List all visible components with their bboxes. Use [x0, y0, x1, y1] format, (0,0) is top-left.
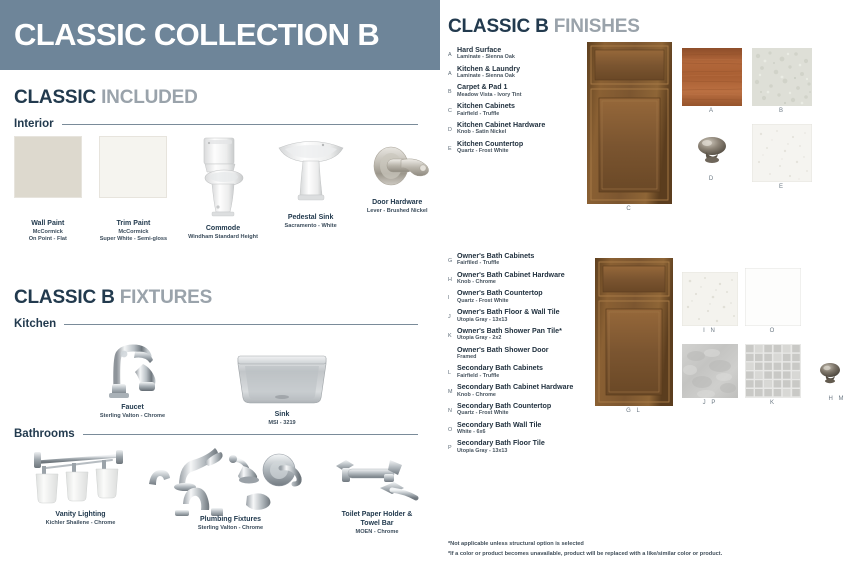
swatch-quartz-top: E [752, 124, 812, 182]
swatch-label: O [745, 328, 801, 334]
finish-row: C Kitchen Cabinets Fairfield - Truffle [448, 102, 598, 117]
item-trim-paint: Trim Paint McCormick Super White - Semi-… [88, 134, 180, 244]
finish-desc: Knob - Chrome [457, 392, 573, 398]
item-sub2: On Point - Flat [8, 236, 88, 243]
item-title: Toilet Paper Holder & [318, 511, 436, 520]
finish-row: Owner's Bath Shower Door Framed [448, 346, 598, 361]
item-wall-paint: Wall Paint McCormick On Point - Flat [8, 134, 88, 244]
swatch-label: H M [822, 396, 852, 402]
item-sub1: MSI - 3219 [232, 420, 332, 427]
finish-row: B Carpet & Pad 1 Meadow Vista - Ivory Ti… [448, 83, 598, 98]
item-title: Plumbing Fixtures [143, 516, 318, 525]
finishes-list-top: A Hard Surface Laminate - Sienna Oak A K… [448, 46, 598, 158]
subsection-label: Bathrooms [14, 428, 75, 440]
finish-name: Secondary Bath Countertop [457, 402, 551, 410]
item-title: Wall Paint [8, 220, 88, 229]
item-sub1: Sacramento - White [267, 223, 355, 230]
finish-letter: J [448, 308, 457, 320]
finish-letter: D [448, 121, 457, 133]
swatch-carpet: B [752, 48, 812, 106]
swatch-label: J P [682, 400, 738, 406]
plumbing-fixtures-icon [145, 446, 317, 518]
finish-row: N Secondary Bath Countertop Quartz - Fro… [448, 402, 598, 417]
kitchen-faucet-icon [91, 338, 175, 400]
finish-desc: Quartz - Frost White [457, 148, 523, 154]
swatch-laminate: A [682, 48, 742, 106]
finish-name: Kitchen Countertop [457, 140, 523, 148]
finish-letter: G [448, 252, 457, 264]
item-sub1: Windham Standard Height [179, 234, 267, 241]
item-title: Pedestal Sink [267, 214, 355, 223]
finish-desc: Utopia Gray - 13x13 [457, 448, 545, 454]
heading-light-text: FIXTURES [120, 287, 212, 308]
item-sub1: MOEN - Chrome [318, 529, 436, 536]
finish-desc: Utopia Gray - 2x2 [457, 335, 562, 341]
pedestal-sink-icon [273, 134, 349, 204]
finish-letter: P [448, 439, 457, 451]
section-heading-finishes: CLASSIC B FINISHES [440, 16, 853, 38]
finish-name: Owner's Bath Shower Door [457, 346, 549, 354]
subsection-interior: Interior [0, 118, 440, 130]
finish-letter: E [448, 140, 457, 152]
item-pedestal-sink: Pedestal Sink Sacramento - White [267, 134, 355, 244]
finish-desc: Quartz - Frost White [457, 410, 551, 416]
swatch-label: A [682, 108, 742, 114]
vanity-light-icon [26, 446, 136, 508]
swatch-label: K [745, 400, 801, 406]
footnote-2: *If a color or product becomes unavailab… [448, 549, 722, 560]
subsection-label: Kitchen [14, 318, 56, 330]
finish-row: H Owner's Bath Cabinet Hardware Knob - C… [448, 271, 598, 286]
item-kitchen-sink: Sink MSI - 3219 [232, 338, 332, 424]
mosaic-tile-swatch-icon [745, 344, 801, 398]
section-heading-fixtures: CLASSIC B FIXTURES [0, 287, 440, 309]
finish-name: Kitchen Cabinet Hardware [457, 121, 545, 129]
cabinet-knob-icon [684, 130, 740, 170]
finish-desc: Utopia Gray - 13x13 [457, 317, 560, 323]
heading-dark-text: CLASSIC B [448, 16, 549, 37]
finish-letter: L [448, 364, 457, 376]
swatch-gray-tile: J P [682, 344, 738, 398]
finish-desc: Quartz - Frost White [457, 298, 543, 304]
finish-row: M Secondary Bath Cabinet Hardware Knob -… [448, 383, 598, 398]
finish-letter: I [448, 289, 457, 301]
cabinet-door-icon [587, 42, 672, 204]
item-door-hardware: Door Hardware Lever - Brushed Nickel [354, 134, 440, 244]
finish-letter: K [448, 327, 457, 339]
subsection-label: Interior [14, 118, 54, 130]
toilet-icon [188, 134, 258, 218]
item-sub2: Super White - Semi-gloss [88, 236, 180, 243]
finish-name: Secondary Bath Wall Tile [457, 421, 541, 429]
finish-letter: O [448, 421, 457, 433]
item-title: Commode [179, 225, 267, 234]
finish-name: Secondary Bath Cabinets [457, 364, 543, 372]
finish-row: D Kitchen Cabinet Hardware Knob - Satin … [448, 121, 598, 136]
swatch-knob-top: D [684, 130, 740, 170]
footnote-1: *Not applicable unless structural option… [448, 539, 722, 550]
finish-letter: N [448, 402, 457, 414]
item-vanity-lighting: Vanity Lighting Kichler Shailene - Chrom… [18, 446, 143, 536]
finish-name: Hard Surface [457, 46, 515, 54]
paint-swatch-icon [14, 136, 82, 198]
heading-dark-text: CLASSIC B [14, 287, 115, 308]
heading-light-text: INCLUDED [101, 87, 198, 108]
quartz-swatch-icon [752, 124, 812, 182]
quartz-swatch-icon [682, 272, 738, 326]
finish-letter: C [448, 102, 457, 114]
item-title: Door Hardware [354, 199, 440, 208]
item-title-2: Towel Bar [318, 520, 436, 529]
swatch-label: G L [595, 408, 673, 414]
finish-desc: Fairfield - Truffle [457, 373, 543, 379]
swatch-knob-bottom: H M [810, 356, 852, 392]
cabinet-knob-icon [810, 356, 852, 392]
swatch-cabinet-bottom: G L [595, 258, 673, 414]
item-title: Faucet [85, 404, 180, 413]
item-title: Vanity Lighting [18, 511, 143, 520]
swatch-cabinet-top: C [587, 42, 672, 212]
finish-desc: Fairfield - Truffle [457, 111, 515, 117]
heading-light-text: FINISHES [554, 16, 640, 37]
collection-sheet: CLASSIC COLLECTION B CLASSIC INCLUDED In… [0, 0, 853, 569]
left-column: CLASSIC COLLECTION B CLASSIC INCLUDED In… [0, 0, 440, 569]
subsection-bathrooms: Bathrooms [0, 428, 440, 440]
item-towel-bar: Toilet Paper Holder & Towel Bar MOEN - C… [318, 446, 436, 536]
swatch-white-tile: O [745, 268, 801, 326]
finish-desc: Meadow Vista - Ivory Tint [457, 92, 522, 98]
kitchen-items: Faucet Sterling Valton - Chrome [0, 338, 440, 424]
finish-letter: A [448, 65, 457, 77]
finish-letter: H [448, 271, 457, 283]
finish-row: G Owner's Bath Cabinets Fairfiled - Truf… [448, 252, 598, 267]
finish-row: A Hard Surface Laminate - Sienna Oak [448, 46, 598, 61]
cabinet-door-icon [595, 258, 673, 406]
swatch-label: E [752, 184, 812, 190]
divider-rule [64, 324, 418, 325]
finish-name: Owner's Bath Countertop [457, 289, 543, 297]
item-sub1: Kichler Shailene - Chrome [18, 520, 143, 527]
footnotes: *Not applicable unless structural option… [448, 539, 722, 560]
item-sub1: McCormick [88, 229, 180, 236]
item-faucet: Faucet Sterling Valton - Chrome [85, 338, 180, 424]
white-tile-swatch-icon [745, 268, 801, 326]
finish-desc: Framed [457, 354, 549, 360]
finish-row: A Kitchen & Laundry Laminate - Sienna Oa… [448, 65, 598, 80]
finish-name: Secondary Bath Floor Tile [457, 439, 545, 447]
finish-letter: A [448, 46, 457, 58]
subsection-kitchen: Kitchen [0, 318, 440, 330]
finish-name: Kitchen & Laundry [457, 65, 520, 73]
door-lever-icon [359, 140, 435, 196]
item-sub1: Lever - Brushed Nickel [354, 208, 440, 215]
bathroom-items: Vanity Lighting Kichler Shailene - Chrom… [0, 446, 440, 536]
swatch-label: C [587, 206, 672, 212]
heading-dark-text: CLASSIC [14, 87, 96, 108]
finish-desc: Laminate - Sienna Oak [457, 54, 515, 60]
finish-row: L Secondary Bath Cabinets Fairfield - Tr… [448, 364, 598, 379]
finish-row: K Owner's Bath Shower Pan Tile* Utopia G… [448, 327, 598, 342]
finish-row: I Owner's Bath Countertop Quartz - Frost… [448, 289, 598, 304]
carpet-swatch-icon [752, 48, 812, 106]
finish-letter: B [448, 83, 457, 95]
hero-banner: CLASSIC COLLECTION B [0, 0, 440, 70]
finish-desc: Knob - Chrome [457, 279, 565, 285]
kitchen-sink-icon [234, 350, 330, 408]
finish-name: Kitchen Cabinets [457, 102, 515, 110]
towel-bar-icon [326, 450, 428, 508]
swatch-label: B [752, 108, 812, 114]
section-heading-included: CLASSIC INCLUDED [0, 87, 440, 109]
item-sub1: Sterling Valton - Chrome [85, 413, 180, 420]
item-commode: Commode Windham Standard Height [179, 134, 267, 244]
finish-name: Owner's Bath Cabinet Hardware [457, 271, 565, 279]
paint-swatch-icon [99, 136, 167, 198]
swatch-quartz-bottom: I N [682, 272, 738, 326]
item-sub1: Sterling Valton - Chrome [143, 525, 318, 532]
finish-row: P Secondary Bath Floor Tile Utopia Gray … [448, 439, 598, 454]
finish-name: Owner's Bath Floor & Wall Tile [457, 308, 560, 316]
finish-name: Secondary Bath Cabinet Hardware [457, 383, 573, 391]
finish-letter [448, 346, 457, 352]
finish-row: E Kitchen Countertop Quartz - Frost Whit… [448, 140, 598, 155]
finish-desc: Laminate - Sienna Oak [457, 73, 520, 79]
divider-rule [62, 124, 418, 125]
finish-name: Owner's Bath Shower Pan Tile* [457, 327, 562, 335]
interior-items: Wall Paint McCormick On Point - Flat Tri… [0, 134, 440, 244]
divider-rule [83, 434, 418, 435]
swatch-mosaic-tile: K [745, 344, 801, 398]
right-column: CLASSIC B FINISHES A Hard Surface Lamina… [440, 0, 853, 569]
page-title: CLASSIC COLLECTION B [14, 17, 379, 53]
swatch-label: D [684, 176, 740, 182]
item-title: Trim Paint [88, 220, 180, 229]
finish-row: O Secondary Bath Wall Tile White - 6x6 [448, 421, 598, 436]
item-plumbing-fixtures: Plumbing Fixtures Sterling Valton - Chro… [143, 446, 318, 536]
finish-desc: Knob - Satin Nickel [457, 129, 545, 135]
item-sub1: McCormick [8, 229, 88, 236]
finish-row: J Owner's Bath Floor & Wall Tile Utopia … [448, 308, 598, 323]
gray-tile-swatch-icon [682, 344, 738, 398]
laminate-swatch-icon [682, 48, 742, 106]
finish-desc: White - 6x6 [457, 429, 541, 435]
swatch-label: I N [682, 328, 738, 334]
item-title: Sink [232, 411, 332, 420]
finish-desc: Fairfiled - Truffle [457, 260, 534, 266]
finish-letter: M [448, 383, 457, 395]
finish-name: Carpet & Pad 1 [457, 83, 522, 91]
finishes-list-bottom: G Owner's Bath Cabinets Fairfiled - Truf… [448, 252, 598, 458]
finish-name: Owner's Bath Cabinets [457, 252, 534, 260]
